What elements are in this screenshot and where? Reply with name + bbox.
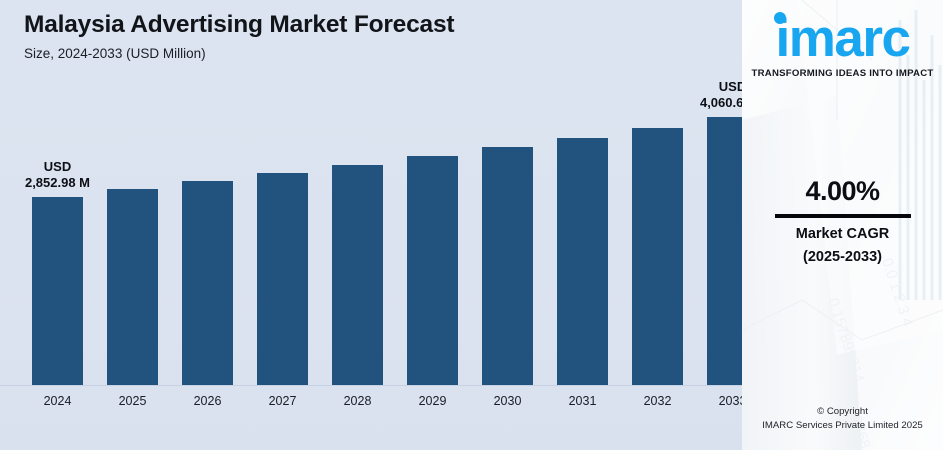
cagr-divider bbox=[775, 214, 911, 218]
bar-2032 bbox=[632, 128, 683, 385]
x-axis-label-2028: 2028 bbox=[332, 394, 383, 408]
axis-baseline bbox=[0, 385, 742, 386]
bar-2028 bbox=[332, 165, 383, 385]
brand-panel: 0.157895214 000.0768 0.0 1 2 3 4 imarc T… bbox=[742, 0, 943, 450]
x-axis-label-2024: 2024 bbox=[32, 394, 83, 408]
logo-dot-icon bbox=[774, 12, 786, 24]
value-label-2024-currency: USD bbox=[0, 159, 123, 175]
bar-2029 bbox=[407, 156, 458, 385]
brand-tagline: TRANSFORMING IDEAS INTO IMPACT bbox=[742, 68, 943, 79]
cagr-period: (2025-2033) bbox=[742, 249, 943, 265]
x-axis-label-2030: 2030 bbox=[482, 394, 533, 408]
chart-panel: Malaysia Advertising Market Forecast Siz… bbox=[0, 0, 742, 450]
x-axis-label-2032: 2032 bbox=[632, 394, 683, 408]
logo-mark: imarc bbox=[750, 8, 936, 70]
cagr-label: Market CAGR bbox=[742, 226, 943, 242]
x-axis-label-2027: 2027 bbox=[257, 394, 308, 408]
x-axis-label-2031: 2031 bbox=[557, 394, 608, 408]
bar-2030 bbox=[482, 147, 533, 385]
value-label-2024-amount: 2,852.98 M bbox=[0, 175, 123, 191]
imarc-logo: imarc bbox=[742, 8, 943, 75]
cagr-value: 4.00% bbox=[742, 176, 943, 207]
x-axis-label-2026: 2026 bbox=[182, 394, 233, 408]
x-axis-label-2029: 2029 bbox=[407, 394, 458, 408]
x-axis-label-2025: 2025 bbox=[107, 394, 158, 408]
bar-2026 bbox=[182, 181, 233, 385]
bar-2027 bbox=[257, 173, 308, 385]
bar-2031 bbox=[557, 138, 608, 385]
copyright-line-2: IMARC Services Private Limited 2025 bbox=[742, 419, 943, 433]
value-label-2024: USD 2,852.98 M bbox=[0, 159, 123, 191]
copyright-notice: © Copyright IMARC Services Private Limit… bbox=[742, 405, 943, 433]
bar-2024 bbox=[32, 197, 83, 385]
chart-screenshot: Malaysia Advertising Market Forecast Siz… bbox=[0, 0, 943, 450]
bar-2025 bbox=[107, 189, 158, 385]
bar-chart-plot: 2024202520262027202820292030203120322033 bbox=[0, 0, 742, 450]
copyright-line-1: © Copyright bbox=[742, 405, 943, 419]
